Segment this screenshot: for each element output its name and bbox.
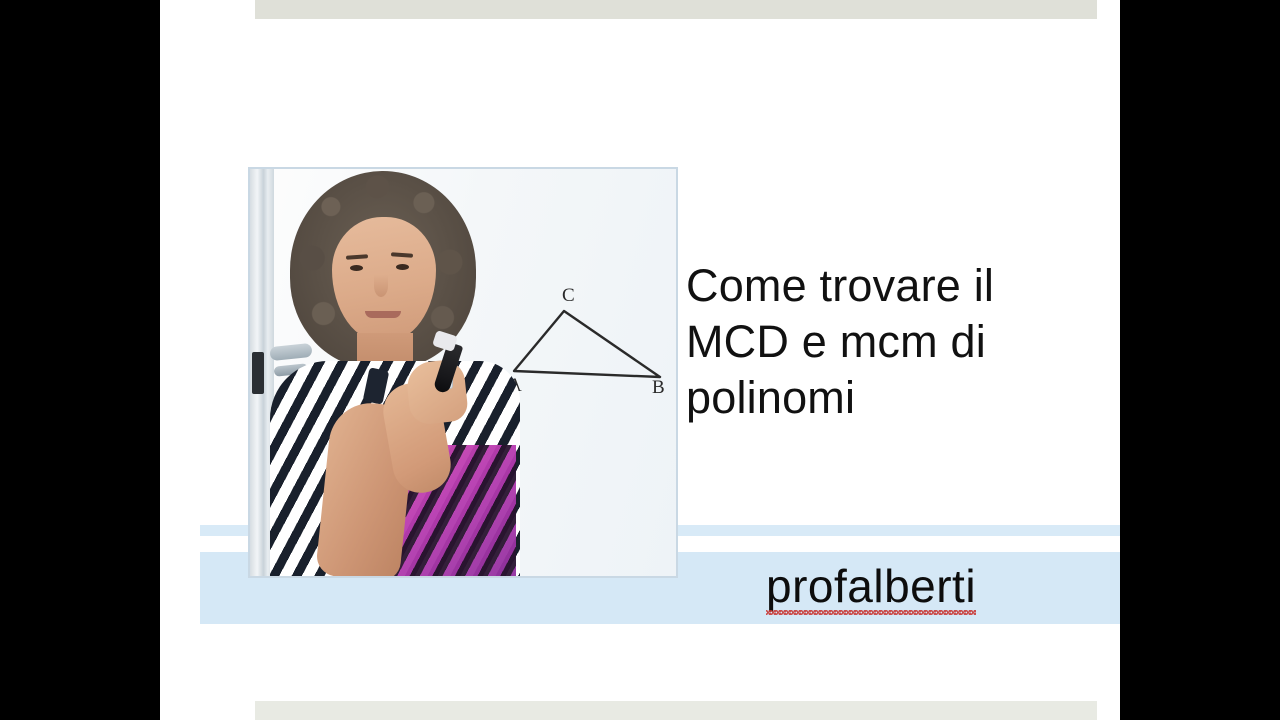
letterbox-bar-right	[1120, 0, 1280, 720]
nose	[374, 275, 388, 297]
channel-signature: profalberti	[766, 556, 976, 618]
triangle-label-b: B	[652, 377, 665, 394]
hand	[405, 358, 469, 426]
slide-title: Come trovare il MCD e mcm di polinomi	[686, 258, 1106, 426]
video-frame: A B C	[0, 0, 1280, 720]
slide-title-line-1: Come trovare il	[686, 258, 1106, 314]
spellcheck-underline-icon	[766, 610, 976, 615]
mouth	[365, 311, 401, 318]
eye-right	[396, 264, 409, 270]
eye-left	[350, 265, 363, 271]
letterbox-bar-left	[0, 0, 160, 720]
decorative-band-top	[255, 0, 1097, 19]
triangle-label-c: C	[562, 285, 575, 306]
signature-text: profalberti	[766, 560, 976, 612]
slide-title-line-3: polinomi	[686, 370, 1106, 426]
slide-title-line-2: MCD e mcm di	[686, 314, 1106, 370]
teacher-figure	[262, 167, 532, 576]
signature-word: profalberti	[766, 556, 976, 618]
decorative-band-bottom	[255, 701, 1097, 720]
teacher-photo: A B C	[248, 167, 678, 578]
slide-canvas: A B C	[160, 0, 1120, 720]
